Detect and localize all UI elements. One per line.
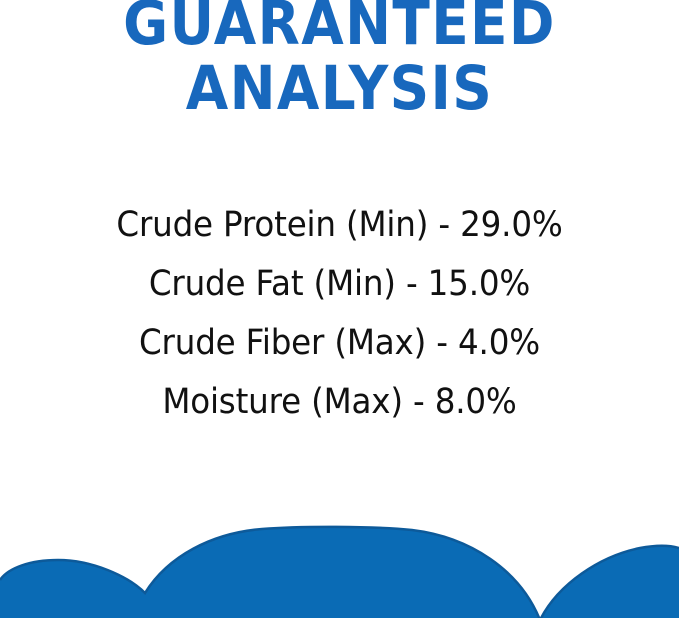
- analysis-row-crude-fiber: Crude Fiber (Max) - 4.0%: [24, 314, 655, 373]
- guaranteed-analysis-list: Crude Protein (Min) - 29.0% Crude Fat (M…: [0, 196, 679, 432]
- wave-fill: [0, 527, 679, 618]
- page-title: GUARANTEED ANALYSIS: [0, 0, 679, 118]
- page-title-line-2: ANALYSIS: [34, 59, 645, 118]
- analysis-row-crude-protein: Crude Protein (Min) - 29.0%: [24, 196, 655, 255]
- page-title-line-1: GUARANTEED: [34, 0, 645, 53]
- guaranteed-analysis-panel: GUARANTEED ANALYSIS Crude Protein (Min) …: [0, 0, 679, 618]
- analysis-row-crude-fat: Crude Fat (Min) - 15.0%: [24, 255, 655, 314]
- wave-edge-line: [0, 527, 679, 618]
- scalloped-wave-decoration: [0, 498, 679, 618]
- analysis-row-moisture: Moisture (Max) - 8.0%: [24, 373, 655, 432]
